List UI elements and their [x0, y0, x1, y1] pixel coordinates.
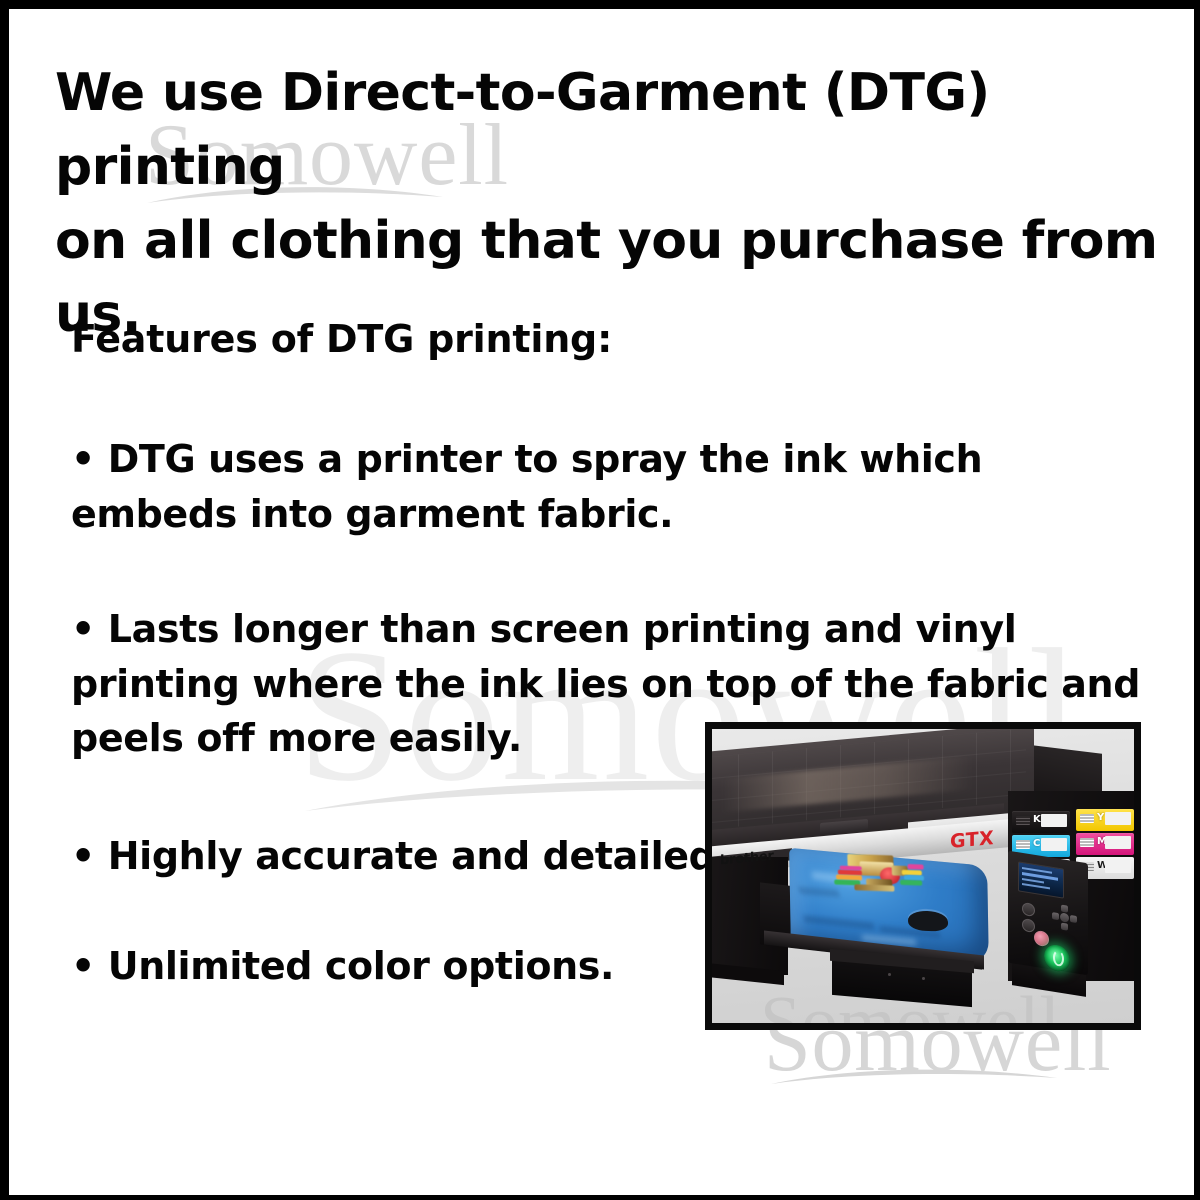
poster-frame: Somowell Somowell Somowell We use Direct…	[0, 0, 1200, 1200]
printed-design-artwork	[829, 853, 926, 900]
platen-screw	[922, 977, 925, 980]
feature-bullet-4: • Unlimited color options.	[71, 939, 761, 994]
yellow-ink-cartridge: Y	[1076, 809, 1134, 831]
page-title: We use Direct-to-Garment (DTG) printing …	[55, 57, 1160, 352]
photo-scene: Somowell brother GTX	[712, 729, 1134, 1023]
dpad-navigation-control[interactable]	[1052, 903, 1076, 931]
black-ink-cartridge: K	[1012, 811, 1070, 833]
dtg-printer-photo: Somowell brother GTX	[705, 722, 1141, 1030]
section-heading: Features of DTG printing:	[71, 315, 612, 364]
feature-bullet-3: • Highly accurate and detailed.	[71, 829, 761, 884]
platen-screw	[888, 973, 891, 976]
gtx-model-label: GTX	[950, 827, 994, 853]
magenta-ink-cartridge: M	[1076, 833, 1134, 855]
watermark-swoosh-bottom	[769, 1064, 1059, 1088]
feature-bullet-1: • DTG uses a printer to spray the ink wh…	[71, 432, 1151, 541]
text-content: We use Direct-to-Garment (DTG) printing …	[55, 57, 1160, 352]
poster-canvas: Somowell Somowell Somowell We use Direct…	[9, 9, 1194, 1195]
